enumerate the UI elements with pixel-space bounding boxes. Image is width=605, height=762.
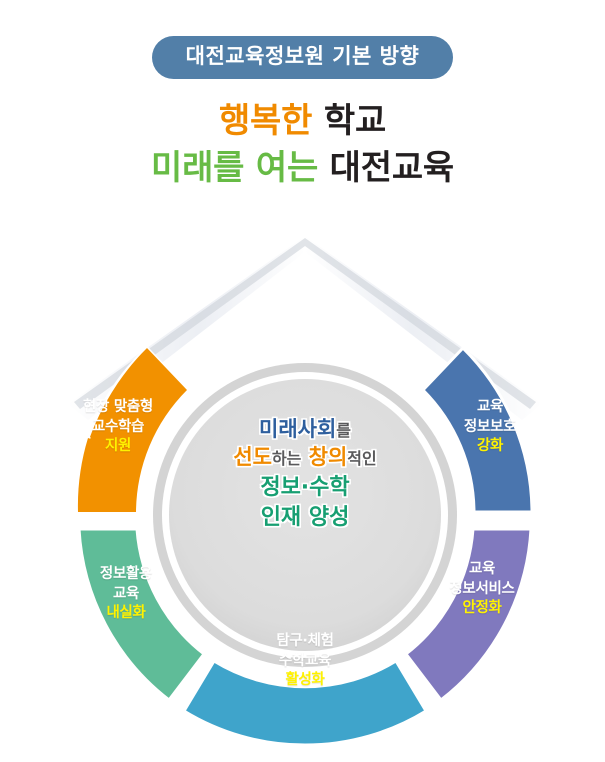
segment-blue-line-1: 교육 xyxy=(430,398,550,418)
segment-blue-line-2: 정보보호 xyxy=(430,418,550,438)
segment-green-line-2: 교육 xyxy=(66,585,186,605)
center-line-2-part-1: 선도 xyxy=(233,445,272,469)
segment-label-field-customized-teaching-support: 현장 맞춤형 교수학습 지원 xyxy=(58,398,178,457)
segment-label-inquiry-experience-math-education: 탐구·체험 수학교육 활성화 xyxy=(245,632,365,691)
center-line-4: 인재 양성 xyxy=(185,503,425,532)
segment-teal-highlight: 활성화 xyxy=(245,671,365,691)
center-line-2-part-4: 적인 xyxy=(347,449,376,468)
segment-purple-line-2: 정보서비스 xyxy=(422,580,542,600)
center-line-2: 선도하는 창의적인 xyxy=(185,443,425,471)
segment-blue-highlight: 강화 xyxy=(430,437,550,457)
center-line-1: 미래사회를 xyxy=(185,415,425,443)
center-vision-statement: 미래사회를 선도하는 창의적인 정보·수학 인재 양성 xyxy=(185,415,425,532)
segment-orange-highlight: 지원 xyxy=(58,437,178,457)
center-line-2-part-2: 하는 xyxy=(272,449,301,468)
segment-green-highlight: 내실화 xyxy=(66,604,186,624)
segment-orange-line-1: 현장 맞춤형 xyxy=(58,398,178,418)
center-line-1-suffix: 를 xyxy=(336,421,351,440)
segment-teal-line-2: 수학교육 xyxy=(245,652,365,672)
segment-label-information-utilization-education: 정보활용 교육 내실화 xyxy=(66,565,186,624)
segment-label-education-information-service: 교육 정보서비스 안정화 xyxy=(422,560,542,619)
segment-green-line-1: 정보활용 xyxy=(66,565,186,585)
segment-teal-line-1: 탐구·체험 xyxy=(245,632,365,652)
center-line-2-part-3: 창의 xyxy=(309,445,348,469)
segment-purple-line-1: 교육 xyxy=(422,560,542,580)
segment-label-education-information-protection: 교육 정보보호 강화 xyxy=(430,398,550,457)
center-line-3: 정보·수학 xyxy=(185,473,425,502)
segment-purple-highlight: 안정화 xyxy=(422,599,542,619)
center-line-1-main: 미래사회 xyxy=(259,417,336,441)
segment-orange-line-2: 교수학습 xyxy=(58,418,178,438)
